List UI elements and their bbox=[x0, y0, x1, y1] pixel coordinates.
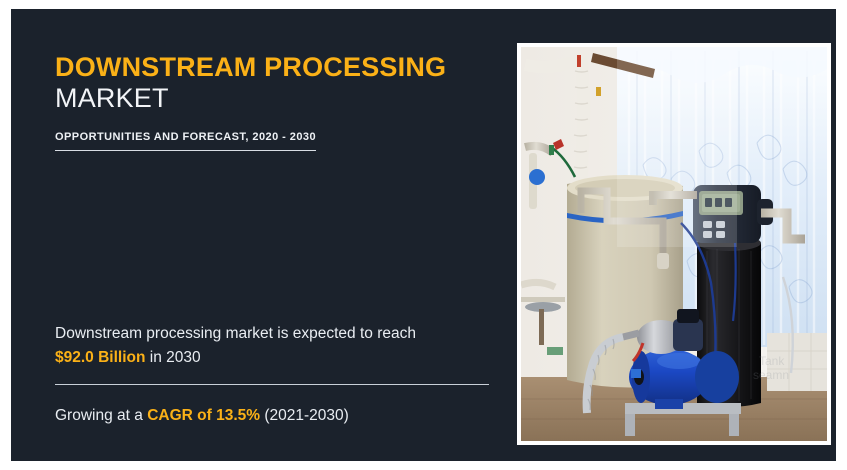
subtitle-container: OPPORTUNITIES AND FORECAST, 2020 - 2030 bbox=[55, 127, 316, 151]
market-size-suffix: in 2030 bbox=[150, 349, 201, 366]
cagr-prefix: Growing at a bbox=[55, 407, 143, 424]
equipment-photo-illustration: Tank seamn bbox=[521, 47, 827, 441]
text-column: DOWNSTREAM PROCESSING MARKET OPPORTUNITI… bbox=[55, 9, 500, 461]
cagr-line: Growing at a CAGR of 13.5% (2021-2030) bbox=[55, 405, 495, 427]
svg-text:Tank: Tank bbox=[759, 354, 785, 368]
report-subtitle: OPPORTUNITIES AND FORECAST, 2020 - 2030 bbox=[55, 131, 316, 151]
section-divider bbox=[55, 384, 489, 385]
market-size-value: $92.0 Billion bbox=[55, 349, 145, 366]
svg-text:seamn: seamn bbox=[753, 368, 789, 382]
page-title: DOWNSTREAM PROCESSING MARKET bbox=[55, 52, 500, 114]
cagr-period: (2021-2030) bbox=[264, 407, 348, 424]
title-line-primary: DOWNSTREAM PROCESSING bbox=[55, 52, 500, 82]
market-size-line-1: Downstream processing market is expected… bbox=[55, 322, 495, 346]
market-size-line-2: $92.0 Billion in 2030 bbox=[55, 346, 495, 370]
cagr-value: CAGR of 13.5% bbox=[147, 407, 260, 424]
market-size-prefix: Downstream processing market is expected… bbox=[55, 325, 416, 342]
cagr-statement: Growing at a CAGR of 13.5% (2021-2030) bbox=[55, 405, 495, 427]
title-line-secondary: MARKET bbox=[55, 82, 500, 114]
equipment-photo: Tank seamn bbox=[521, 47, 827, 441]
dark-panel: DOWNSTREAM PROCESSING MARKET OPPORTUNITI… bbox=[11, 9, 836, 461]
market-size-statement: Downstream processing market is expected… bbox=[55, 322, 495, 370]
photo-frame: Tank seamn bbox=[517, 43, 831, 445]
infographic-slide: DOWNSTREAM PROCESSING MARKET OPPORTUNITI… bbox=[0, 0, 847, 470]
